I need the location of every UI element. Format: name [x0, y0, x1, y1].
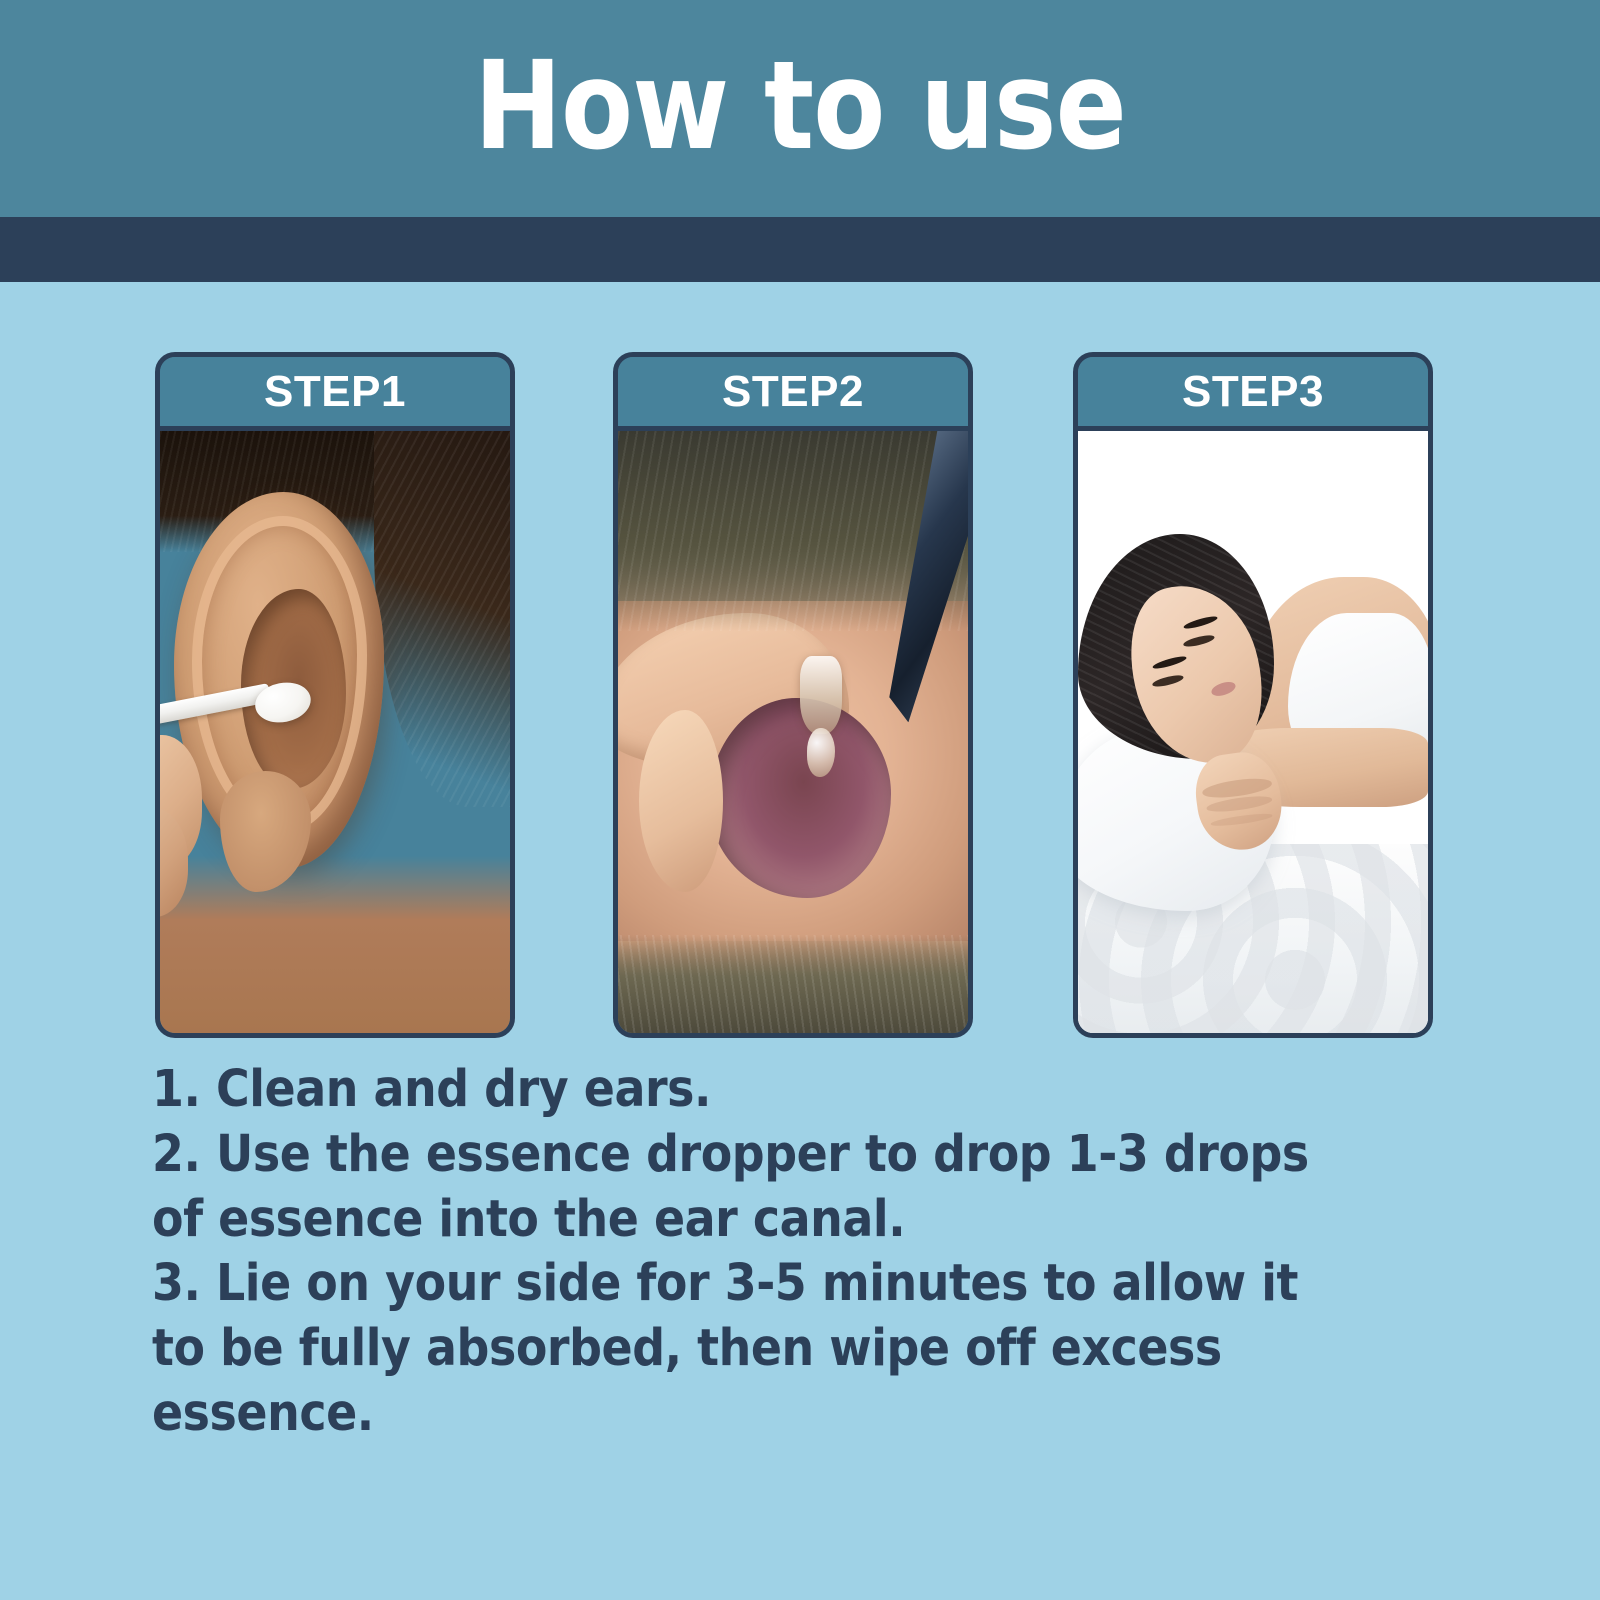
header-accent-band	[0, 217, 1600, 282]
step-card-2-header: STEP2	[618, 357, 968, 431]
step-card-2: STEP2	[613, 352, 973, 1038]
how-to-use-page: How to use STEP1 STEP2	[0, 0, 1600, 1600]
step-card-3-header: STEP3	[1078, 357, 1428, 431]
dropper-tip	[800, 656, 842, 735]
ear-tragus	[639, 710, 723, 892]
step-card-1: STEP1	[155, 352, 515, 1038]
hair-side-region	[374, 431, 511, 807]
instruction-line-3: 3. Lie on your side for 3-5 minutes to a…	[152, 1252, 1313, 1446]
instructions-block: 1. Clean and dry ears. 2. Use the essenc…	[152, 1058, 1442, 1447]
steps-row: STEP1 STEP2	[0, 352, 1600, 1042]
ear-dropper-photo	[618, 431, 968, 1038]
step-card-1-label: STEP1	[264, 367, 406, 417]
ear-canal-opening	[709, 698, 891, 898]
page-title: How to use	[112, 42, 1488, 170]
neck-region	[160, 856, 510, 1038]
step-card-3-label: STEP3	[1182, 367, 1324, 417]
step-card-2-label: STEP2	[722, 367, 864, 417]
ear-cotton-swab-photo	[160, 431, 510, 1038]
header-band: How to use	[0, 0, 1600, 217]
instruction-line-2: 2. Use the essence dropper to drop 1-3 d…	[152, 1123, 1313, 1253]
instruction-line-1: 1. Clean and dry ears.	[152, 1058, 1313, 1123]
woman-sleeping-photo	[1078, 431, 1428, 1038]
hair-bottom-region	[618, 935, 968, 1038]
step-card-3: STEP3	[1073, 352, 1433, 1038]
step-card-1-header: STEP1	[160, 357, 510, 431]
